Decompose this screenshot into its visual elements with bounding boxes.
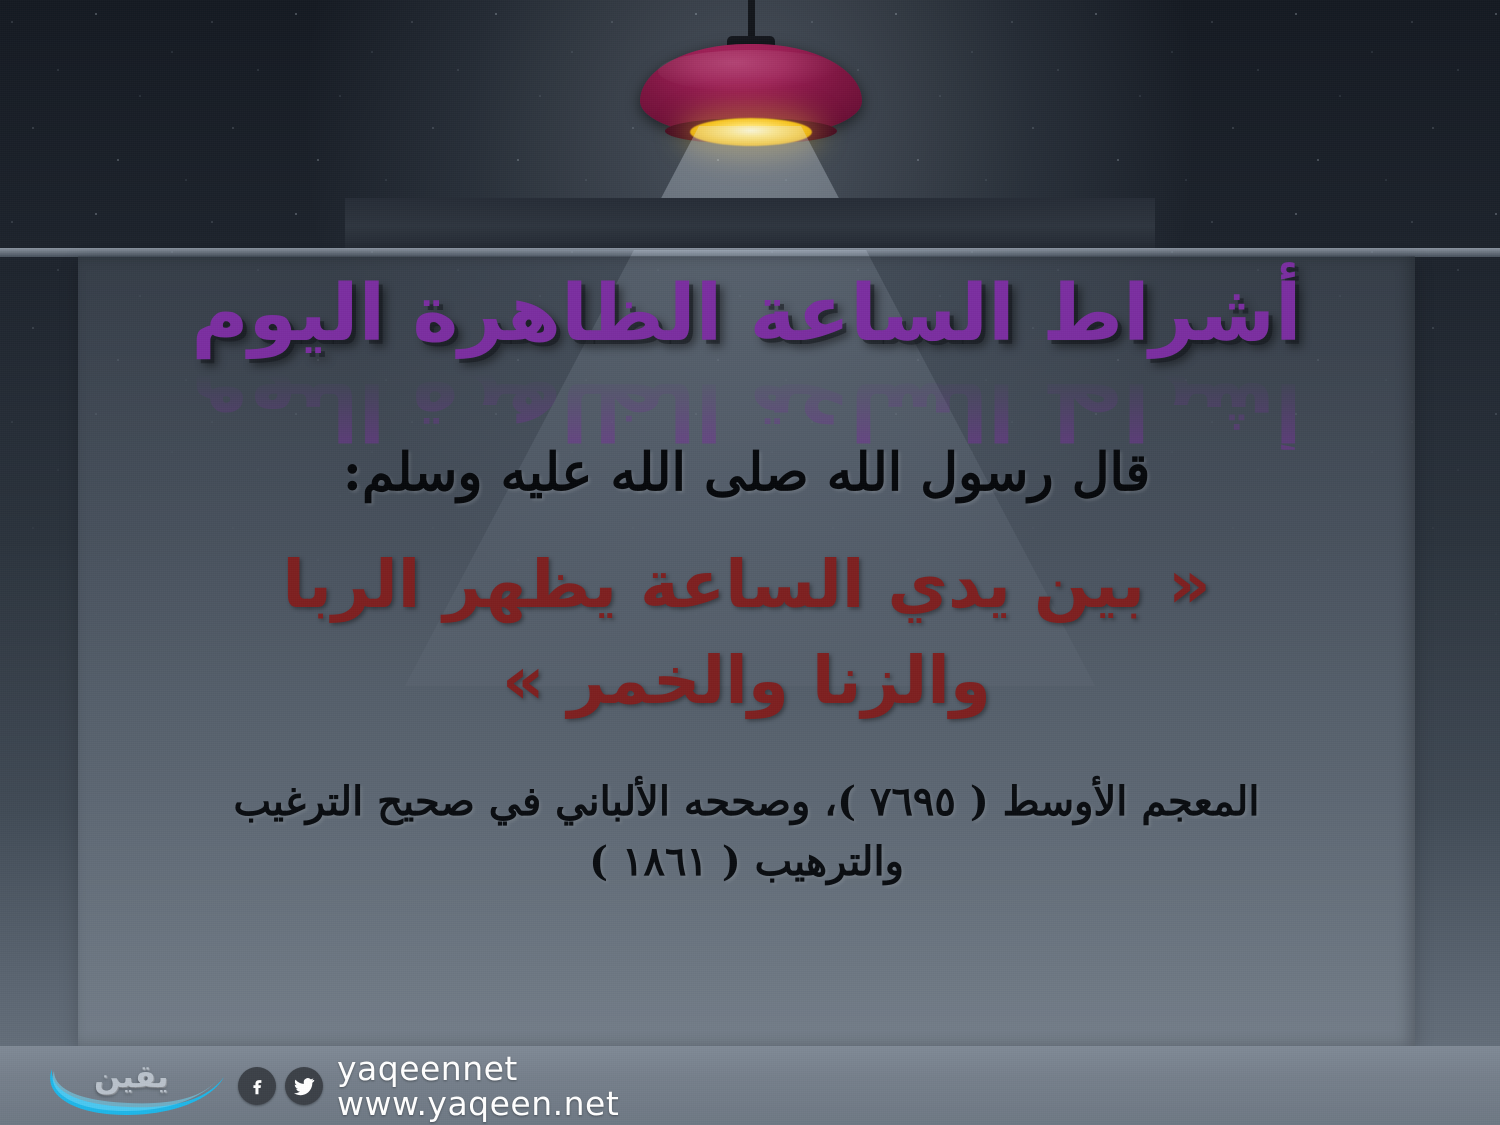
title-block: أشراط الساعة الظاهرة اليوم أشراط الساعة … (78, 274, 1415, 414)
hadith-line-2: والزنا والخمر » (78, 633, 1415, 729)
poster-content: أشراط الساعة الظاهرة اليوم أشراط الساعة … (78, 256, 1415, 1046)
facebook-icon[interactable] (238, 1067, 276, 1105)
brand-logo[interactable]: يقين (24, 1051, 234, 1121)
social-handle[interactable]: yaqeennet (337, 1052, 619, 1085)
hadith-text: « بين يدي الساعة يظهر الربا والزنا والخم… (78, 537, 1415, 728)
brand-wordmark: يقين (94, 1059, 169, 1095)
hadith-source: المعجم الأوسط ( ٧٦٩٥ )، وصححه الألباني ف… (78, 772, 1415, 892)
hadith-intro: قال رسول الله صلى الله عليه وسلم: (78, 440, 1415, 505)
hadith-line-1: « بين يدي الساعة يظهر الربا (78, 537, 1415, 633)
page-title: أشراط الساعة الظاهرة اليوم (78, 274, 1415, 356)
social-icons-group (238, 1067, 323, 1105)
website-url[interactable]: www.yaqeen.net (337, 1087, 619, 1120)
source-line-1: المعجم الأوسط ( ٧٦٩٥ )، وصححه الألباني ف… (138, 772, 1355, 832)
twitter-icon[interactable] (285, 1067, 323, 1105)
page-title-reflection: أشراط الساعة الظاهرة اليوم (78, 368, 1415, 450)
light-bulb-icon (690, 118, 812, 146)
poster-canvas: أشراط الساعة الظاهرة اليوم أشراط الساعة … (0, 0, 1500, 1125)
source-line-2: والترهيب ( ١٨٦١ ) (138, 832, 1355, 892)
footer-bar: يقين yaqeennet www.yaqeen.net (0, 1046, 1500, 1125)
brand-handles: yaqeennet www.yaqeen.net (323, 1052, 633, 1120)
wall-shelf-bar (345, 198, 1155, 250)
